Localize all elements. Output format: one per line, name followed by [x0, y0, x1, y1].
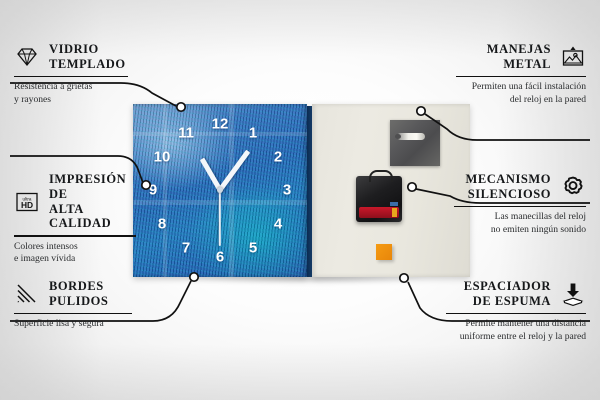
ultra-hd-icon: ultra HD	[14, 189, 40, 215]
callout-title: BORDES PULIDOS	[49, 279, 108, 309]
clock-number-6: 6	[216, 250, 224, 265]
battery	[359, 207, 399, 218]
wall-frame-icon	[560, 44, 586, 70]
callout-vidrio-templado[interactable]: VIDRIO TEMPLADO Resistencia a grietas y …	[14, 42, 142, 107]
svg-text:HD: HD	[21, 200, 33, 210]
callout-header: ultra HD IMPRESIÓN DE ALTA CALIDAD	[14, 172, 148, 231]
hanger-slot	[397, 133, 425, 140]
second-hand	[219, 190, 221, 246]
clock-number-5: 5	[249, 241, 257, 256]
callout-rule	[446, 313, 586, 315]
clock-center-cap	[217, 187, 223, 193]
clock-face: 12 1 2 3 4 5 6 7 8 9 10 11	[133, 104, 307, 277]
clock-number-10: 10	[154, 150, 171, 165]
clock-number-1: 1	[249, 126, 257, 141]
callout-title: VIDRIO TEMPLADO	[49, 42, 126, 72]
gear-icon	[560, 174, 586, 200]
callout-bordes-pulidos[interactable]: BORDES PULIDOS Superficie lisa y segura	[14, 279, 144, 331]
callout-subtitle: Las manecillas del reloj no emiten ningú…	[454, 211, 586, 237]
callout-header: ESPACIADOR DE ESPUMA	[446, 279, 586, 309]
callout-subtitle: Permite mantener una distancia uniforme …	[446, 318, 586, 344]
callout-header: BORDES PULIDOS	[14, 279, 144, 309]
product-image: 12 1 2 3 4 5 6 7 8 9 10 11	[133, 104, 470, 277]
clock-number-8: 8	[158, 217, 166, 232]
infographic-canvas: 12 1 2 3 4 5 6 7 8 9 10 11	[0, 0, 600, 400]
callout-subtitle: Colores intensos e imagen vívida	[14, 241, 148, 267]
callout-title: MECANISMO SILENCIOSO	[465, 172, 551, 202]
callout-rule	[14, 235, 136, 237]
callout-title: MANEJAS METAL	[487, 42, 551, 72]
callout-mecanismo-silencioso[interactable]: MECANISMO SILENCIOSO Las manecillas del …	[454, 172, 586, 237]
clock-number-12: 12	[212, 117, 229, 132]
clock-number-4: 4	[274, 217, 282, 232]
callout-subtitle: Superficie lisa y segura	[14, 318, 144, 331]
callout-impresion-alta-calidad[interactable]: ultra HD IMPRESIÓN DE ALTA CALIDAD Color…	[14, 172, 148, 266]
callout-title: IMPRESIÓN DE ALTA CALIDAD	[49, 172, 148, 231]
callout-rule	[454, 206, 586, 208]
mechanism-chip	[390, 202, 398, 206]
callout-header: MECANISMO SILENCIOSO	[454, 172, 586, 202]
callout-subtitle: Resistencia a grietas y rayones	[14, 81, 142, 107]
callout-manejas-metal[interactable]: MANEJAS METAL Permiten una fácil instala…	[456, 42, 586, 107]
quartz-mechanism	[356, 176, 402, 222]
mechanism-bail	[369, 170, 393, 182]
clock-number-7: 7	[182, 241, 190, 256]
diamond-icon	[14, 44, 40, 70]
clock-front-panel: 12 1 2 3 4 5 6 7 8 9 10 11	[133, 104, 307, 277]
clock-back-panel	[312, 104, 470, 277]
minute-hand	[218, 150, 250, 192]
foam-spacer	[376, 244, 392, 260]
callout-espaciador-espuma[interactable]: ESPACIADOR DE ESPUMA Permite mantener un…	[446, 279, 586, 344]
callout-title: ESPACIADOR DE ESPUMA	[464, 279, 551, 309]
callout-rule	[14, 76, 128, 78]
callout-rule	[456, 76, 586, 78]
polished-edges-icon	[14, 281, 40, 307]
metal-hanger-plate	[390, 120, 440, 166]
callout-header: VIDRIO TEMPLADO	[14, 42, 142, 72]
foam-spacer-icon	[560, 281, 586, 307]
clock-number-3: 3	[283, 183, 291, 198]
clock-number-2: 2	[274, 150, 282, 165]
callout-rule	[14, 313, 132, 315]
callout-header: MANEJAS METAL	[456, 42, 586, 72]
clock-number-9: 9	[149, 183, 157, 198]
clock-number-11: 11	[178, 126, 194, 141]
callout-subtitle: Permiten una fácil instalación del reloj…	[456, 81, 586, 107]
